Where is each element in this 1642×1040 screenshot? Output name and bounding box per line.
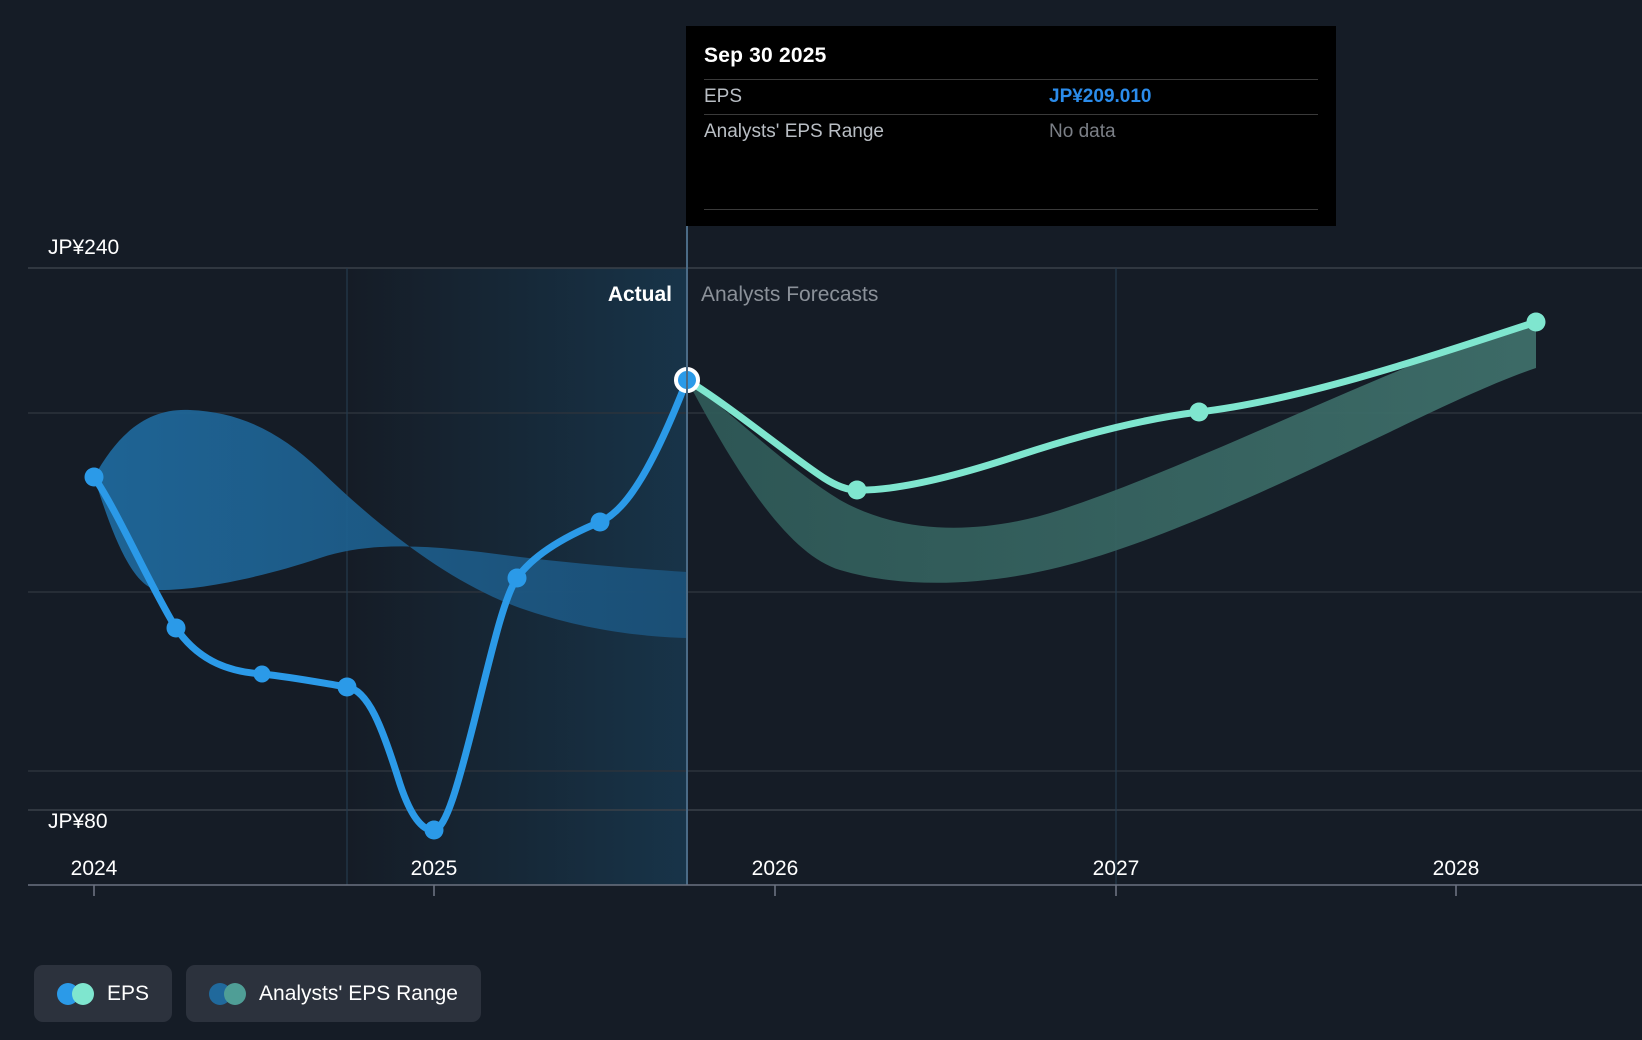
data-tooltip: Sep 30 2025 EPS JP¥209.010 Analysts' EPS…	[686, 26, 1336, 226]
chart-legend: EPS Analysts' EPS Range	[34, 965, 481, 1022]
tooltip-label-range: Analysts' EPS Range	[704, 121, 1049, 143]
analysts-range-swatch-icon	[209, 983, 246, 1005]
tooltip-label-eps: EPS	[704, 86, 1049, 108]
y-axis-label-bottom: JP¥80	[48, 810, 108, 834]
x-axis-label-2027: 2027	[1093, 857, 1140, 881]
tooltip-footer-divider	[704, 209, 1318, 211]
eps-swatch-icon	[57, 983, 94, 1005]
tooltip-value-range: No data	[1049, 121, 1116, 143]
tooltip-title: Sep 30 2025	[704, 44, 1318, 79]
tooltip-row-range: Analysts' EPS Range No data	[704, 114, 1318, 149]
forecast-region-label: Analysts Forecasts	[701, 283, 878, 307]
legend-label-eps: EPS	[107, 982, 149, 1006]
tooltip-spacer	[704, 149, 1318, 209]
tooltip-value-eps: JP¥209.010	[1049, 86, 1152, 108]
eps-forecast-chart: JP¥240 JP¥80 2024 2025 2026 2027 2028 Ac…	[0, 0, 1642, 1040]
x-axis-label-2025: 2025	[411, 857, 458, 881]
actual-region-label: Actual	[608, 283, 672, 307]
x-axis-label-2024: 2024	[71, 857, 118, 881]
x-axis-label-2026: 2026	[752, 857, 799, 881]
x-axis-label-2028: 2028	[1433, 857, 1480, 881]
legend-item-eps[interactable]: EPS	[34, 965, 172, 1022]
y-axis-label-top: JP¥240	[48, 236, 119, 260]
legend-label-analysts-range: Analysts' EPS Range	[259, 982, 458, 1006]
legend-item-analysts-range[interactable]: Analysts' EPS Range	[186, 965, 481, 1022]
tooltip-row-eps: EPS JP¥209.010	[704, 79, 1318, 114]
x-axis	[28, 885, 1642, 896]
